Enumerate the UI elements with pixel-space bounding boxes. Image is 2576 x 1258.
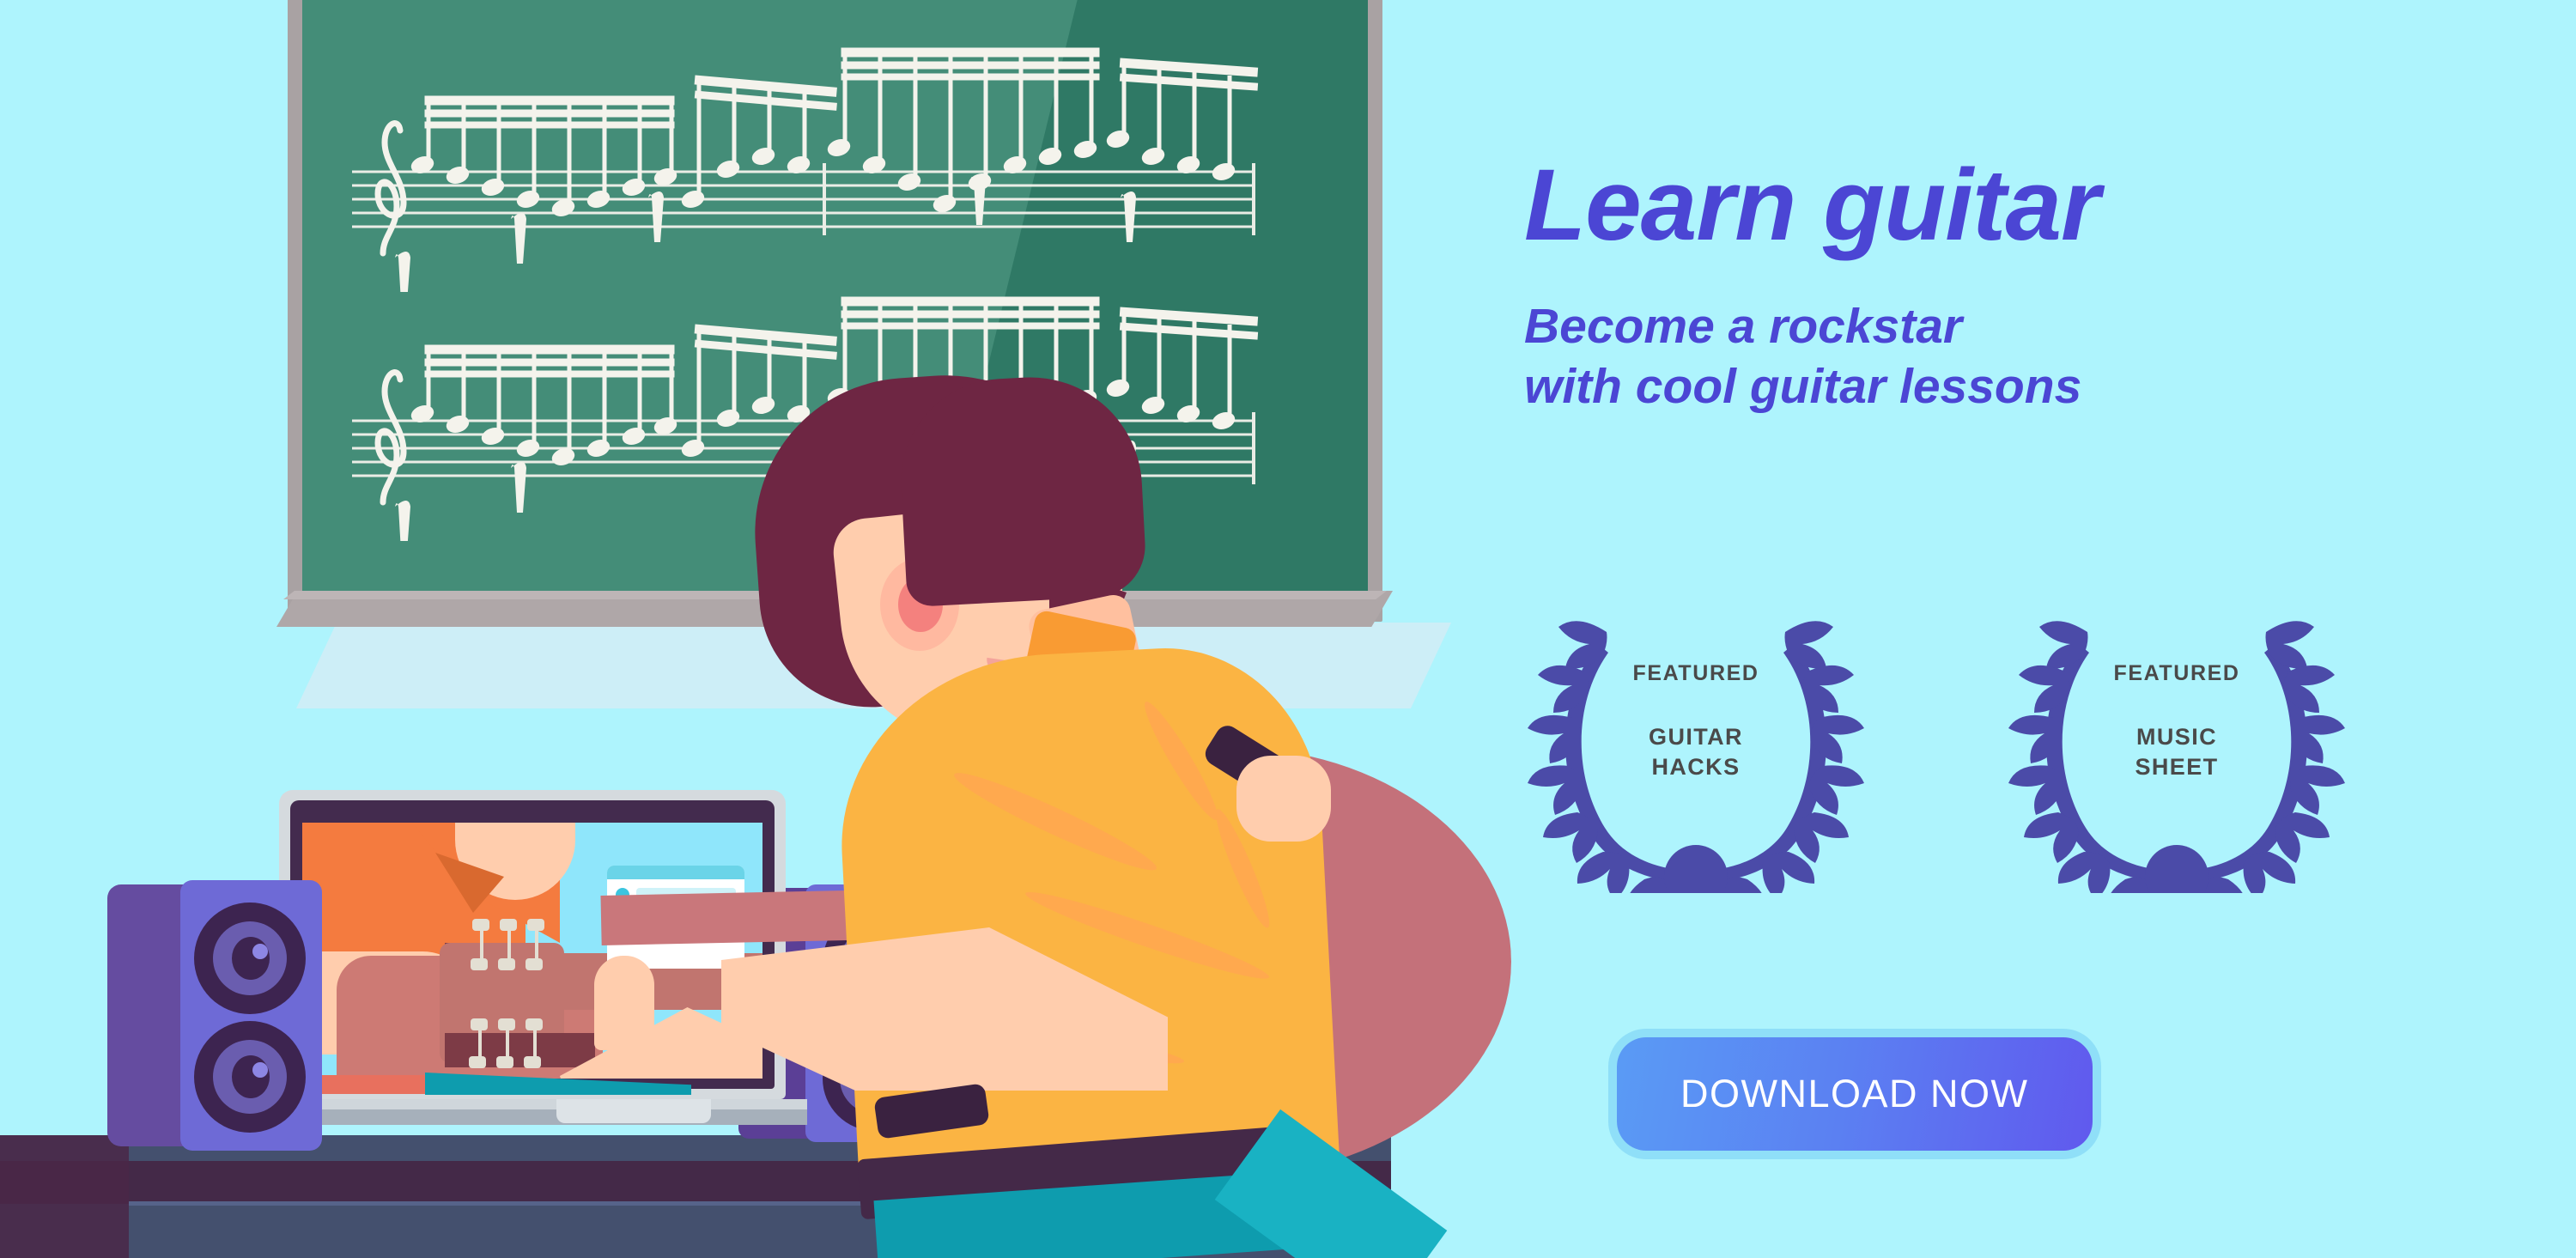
hero-subheading-line-1: Become a rockstar xyxy=(1524,297,2383,357)
badge-text-block: FEATURED MUSIC SHEET xyxy=(2005,661,2348,782)
badge-name-line-2: HACKS xyxy=(1524,752,1868,782)
laptop-trackpad-front xyxy=(556,1099,711,1123)
badge-guitar-hacks: FEATURED GUITAR HACKS xyxy=(1524,593,1868,893)
hero-illustration-banner: Learn guitar Become a rockstar with cool… xyxy=(0,0,2576,1258)
badge-featured-label: FEATURED xyxy=(2005,661,2348,686)
hero-subheading-line-2: with cool guitar lessons xyxy=(1524,357,2383,417)
badge-name-line-2: SHEET xyxy=(2005,752,2348,782)
page-title: Learn guitar xyxy=(1524,155,2383,256)
badge-music-sheet: FEATURED MUSIC SHEET xyxy=(2005,593,2348,893)
download-now-button[interactable]: DOWNLOAD NOW xyxy=(1617,1037,2093,1151)
speaker-cone-lower-highlight xyxy=(252,1062,268,1078)
hero-copy: Learn guitar Become a rockstar with cool… xyxy=(1524,155,2383,416)
video-overlay-card-titlebar xyxy=(607,866,744,879)
badge-featured-label: FEATURED xyxy=(1524,661,1868,686)
badge-name: GUITAR HACKS xyxy=(1524,722,1868,782)
boy-strumming-hand xyxy=(1236,756,1331,842)
cta-container: DOWNLOAD NOW xyxy=(1617,1037,2093,1151)
badge-name-line-1: MUSIC xyxy=(2005,722,2348,752)
laptop-base-shadow xyxy=(258,1109,807,1125)
laptop-screen xyxy=(302,823,762,1079)
speaker-left-face xyxy=(180,880,322,1151)
badge-name-line-1: GUITAR xyxy=(1524,722,1868,752)
speaker-left xyxy=(107,880,322,1151)
award-badges: FEATURED GUITAR HACKS xyxy=(1524,593,2348,893)
badge-name: MUSIC SHEET xyxy=(2005,722,2348,782)
video-guitar-headstock-shadow-2 xyxy=(445,1033,595,1067)
speaker-cone-upper-highlight xyxy=(252,944,268,959)
desk-left-edge xyxy=(0,1135,129,1258)
music-staff-1 xyxy=(343,34,1305,292)
speaker-cone-lower-dot xyxy=(232,1055,270,1098)
badge-text-block: FEATURED GUITAR HACKS xyxy=(1524,661,1868,782)
hero-subheading: Become a rockstar with cool guitar lesso… xyxy=(1524,297,2383,416)
speaker-cone-upper-dot xyxy=(232,937,270,980)
